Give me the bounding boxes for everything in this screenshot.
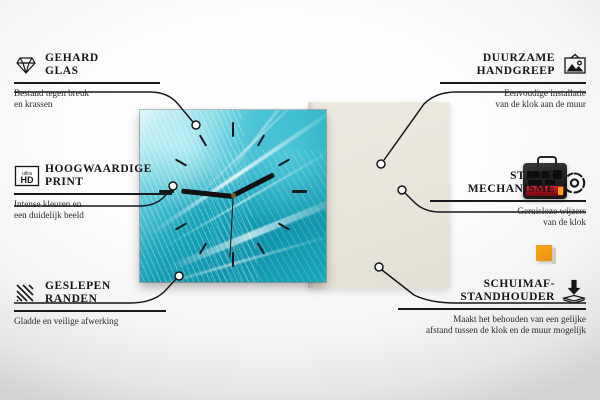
feature-divider (14, 193, 172, 195)
feature-desc-line1: Eenvoudige installatie (504, 88, 586, 98)
feature-desc-line2: van de klok aan de muur (495, 99, 586, 109)
feature-desc-line1: Intense kleuren en (14, 199, 81, 209)
feature-hoogwaardige-print: ultra HD HOOGWAARDIGE PRINT Intense kleu… (14, 163, 172, 221)
feature-desc-line1: Gladde en veilige afwerking (14, 316, 118, 326)
beveled-edge-icon (14, 281, 38, 305)
product-infographic: GEHARD GLAS Bestand tegen breuk en krass… (0, 0, 600, 400)
feature-title-line1: GEHARD (45, 52, 99, 64)
picture-frame-icon (562, 53, 586, 77)
feature-desc-line2: afstand tussen de klok en de muur mogeli… (426, 325, 586, 335)
feature-title-line2: RANDEN (45, 293, 98, 305)
tick-3 (292, 190, 307, 193)
ultra-hd-icon-bottom: HD (21, 175, 34, 185)
feature-title-line2: HANDGREEP (477, 65, 555, 77)
feature-title-line1: HOOGWAARDIGE (45, 163, 152, 175)
feature-divider (14, 82, 160, 84)
feature-divider (14, 310, 166, 312)
feature-title-line2: PRINT (45, 176, 84, 188)
spacer-arrow-icon (562, 279, 586, 303)
ultra-hd-icon: ultra HD (14, 164, 38, 188)
feature-desc-line2: een duidelijk beeld (14, 210, 84, 220)
feature-geslepen-randen: GESLEPEN RANDEN Gladde en veilige afwerk… (14, 280, 166, 327)
feature-duurzame-handgreep: DUURZAME HANDGREEP Eenvoudige installati… (440, 52, 586, 110)
foam-spacer (536, 245, 552, 261)
feature-desc-line1: Bestand tegen breuk (14, 88, 89, 98)
feature-title-line1: STILLE (510, 170, 555, 182)
feature-title-line2: MECHANISME (468, 183, 555, 195)
product-photo (132, 96, 450, 292)
feature-gehard-glas: GEHARD GLAS Bestand tegen breuk en krass… (14, 52, 160, 110)
feature-desc-line1: Geruisloze wijzers (517, 206, 586, 216)
tick-12 (232, 122, 234, 137)
feature-title-line1: DUURZAME (483, 52, 555, 64)
feature-desc-line2: van de klok (543, 217, 586, 227)
feature-divider (398, 308, 586, 310)
diamond-icon (14, 53, 38, 77)
mechanism-hook (537, 156, 557, 167)
clock-hub (231, 193, 236, 198)
feature-divider (430, 200, 586, 202)
tick-6 (232, 252, 234, 267)
feature-divider (440, 82, 586, 84)
feature-desc-line1: Maakt het behouden van een gelijke (453, 314, 586, 324)
feature-stille-mechanisme: STILLE MECHANISME Geruisloze wijzers van… (430, 170, 586, 228)
feature-title-line1: SCHUIMAF- (484, 278, 555, 290)
gear-icon (562, 171, 586, 195)
feature-title-line2: STANDHOUDER (460, 291, 555, 303)
feature-desc-line2: en krassen (14, 99, 53, 109)
feature-title-line1: GESLEPEN (45, 280, 111, 292)
feature-schuimafstandhouder: SCHUIMAF- STANDHOUDER Maakt het behouden… (398, 278, 586, 336)
wall-panel (308, 102, 450, 288)
feature-title-line2: GLAS (45, 65, 79, 77)
